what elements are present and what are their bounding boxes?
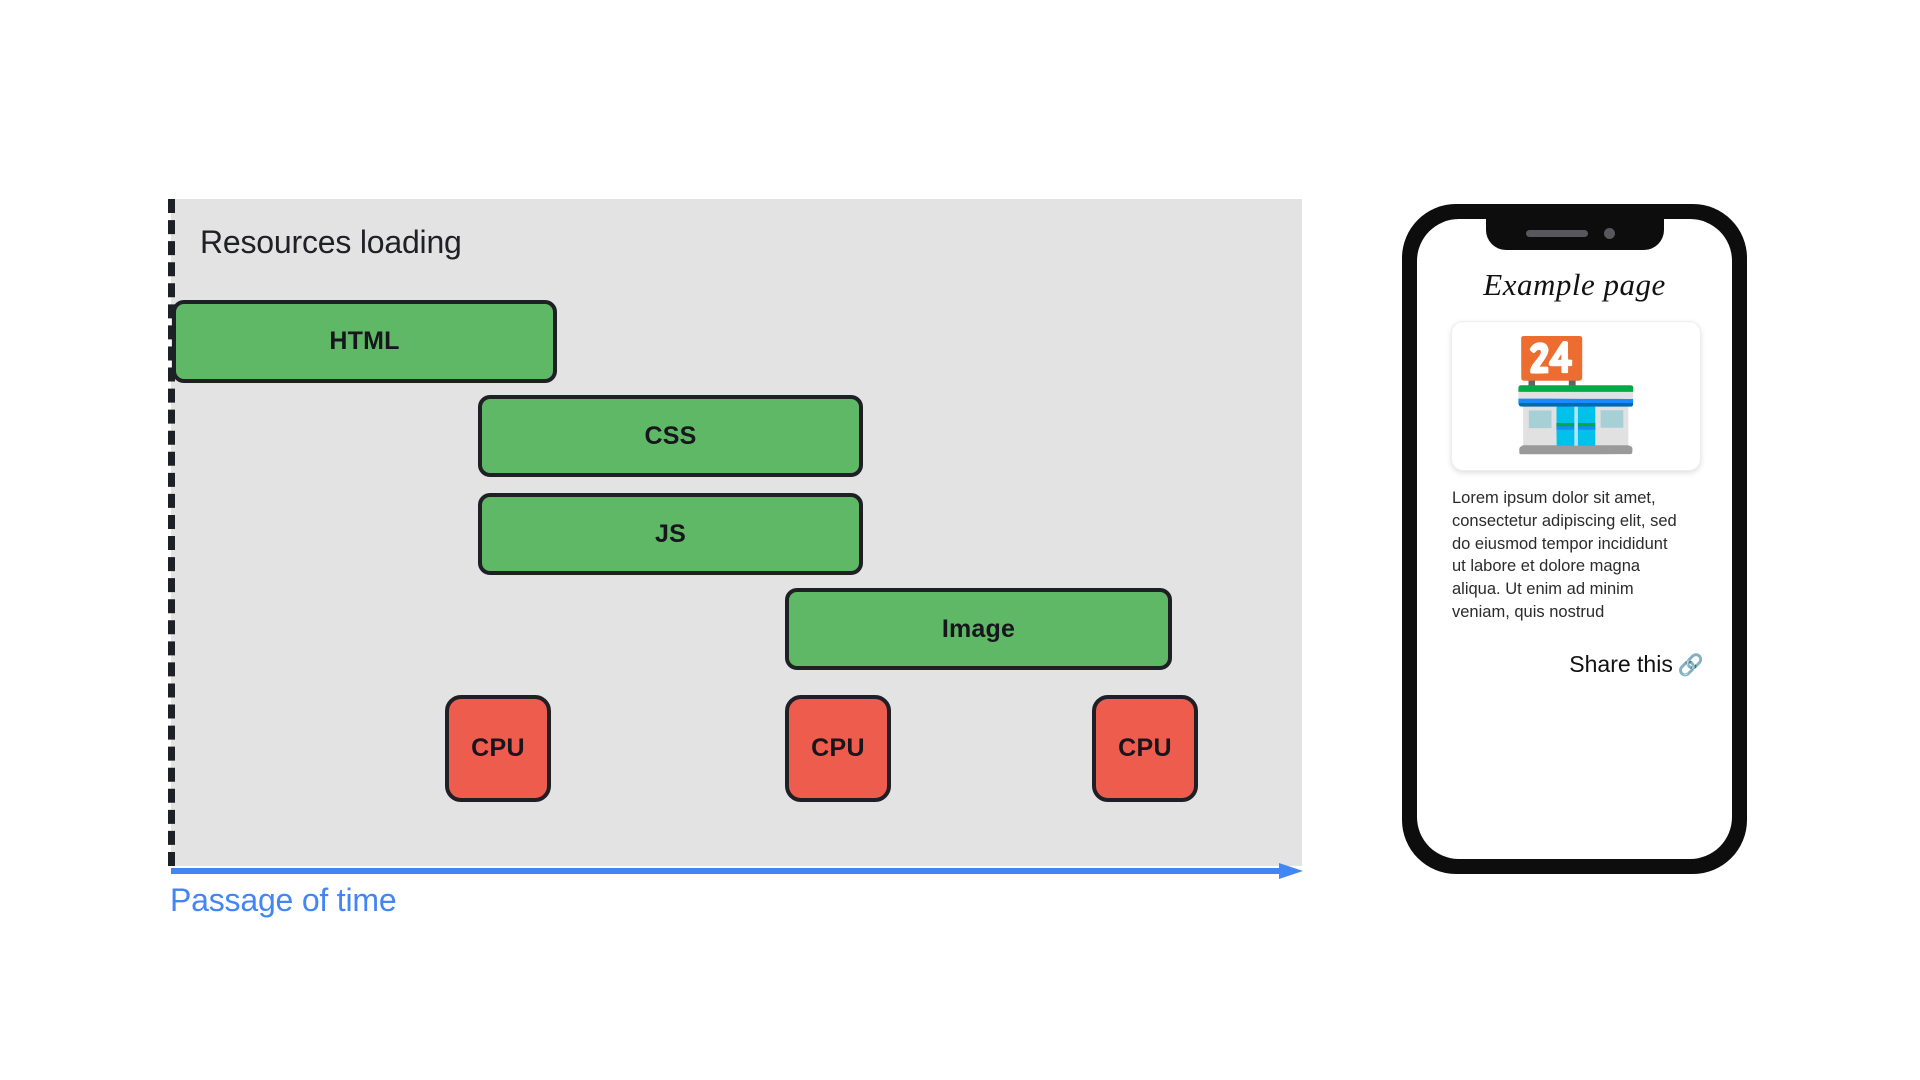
navigation-start-dashed-line [168,199,175,866]
body-text: Lorem ipsum dolor sit amet, consectetur … [1452,487,1684,624]
resource-bar-image: Image [785,588,1172,670]
resource-bar-label: HTML [329,327,399,356]
page-title: Example page [1417,267,1732,303]
resource-bar-css: CSS [478,395,863,477]
store-emoji-icon: 🏪 [1509,342,1643,450]
front-camera-icon [1604,228,1615,239]
resource-bar-label: Image [942,615,1015,644]
arrow-head-icon [1279,863,1303,879]
cpu-task-1: CPU [445,695,551,802]
time-axis-shaft [171,868,1293,874]
link-icon: 🔗 [1678,653,1704,677]
resource-loading-diagram: Resources loading HTML CSS JS Image CPU … [0,0,1400,1080]
time-axis-label: Passage of time [170,882,396,919]
panel-title: Resources loading [200,226,462,258]
cpu-task-label: CPU [811,734,865,763]
cpu-task-3: CPU [1092,695,1198,802]
resource-bar-label: CSS [644,422,696,451]
resource-bar-html: HTML [172,300,557,383]
time-axis-arrow [171,863,1311,879]
cpu-task-label: CPU [471,734,525,763]
phone-notch [1486,219,1664,250]
share-this-button[interactable]: Share this🔗 [1569,651,1704,678]
phone-mockup: Example page 🏪 Lorem ipsum dolor sit ame… [1402,204,1747,874]
cpu-task-label: CPU [1118,734,1172,763]
hero-image-card: 🏪 [1451,321,1701,471]
phone-screen: Example page 🏪 Lorem ipsum dolor sit ame… [1417,219,1732,859]
share-this-label: Share this [1569,651,1673,677]
resource-bar-js: JS [478,493,863,575]
earpiece-speaker-icon [1526,230,1588,237]
resource-bar-label: JS [655,520,686,549]
cpu-task-2: CPU [785,695,891,802]
